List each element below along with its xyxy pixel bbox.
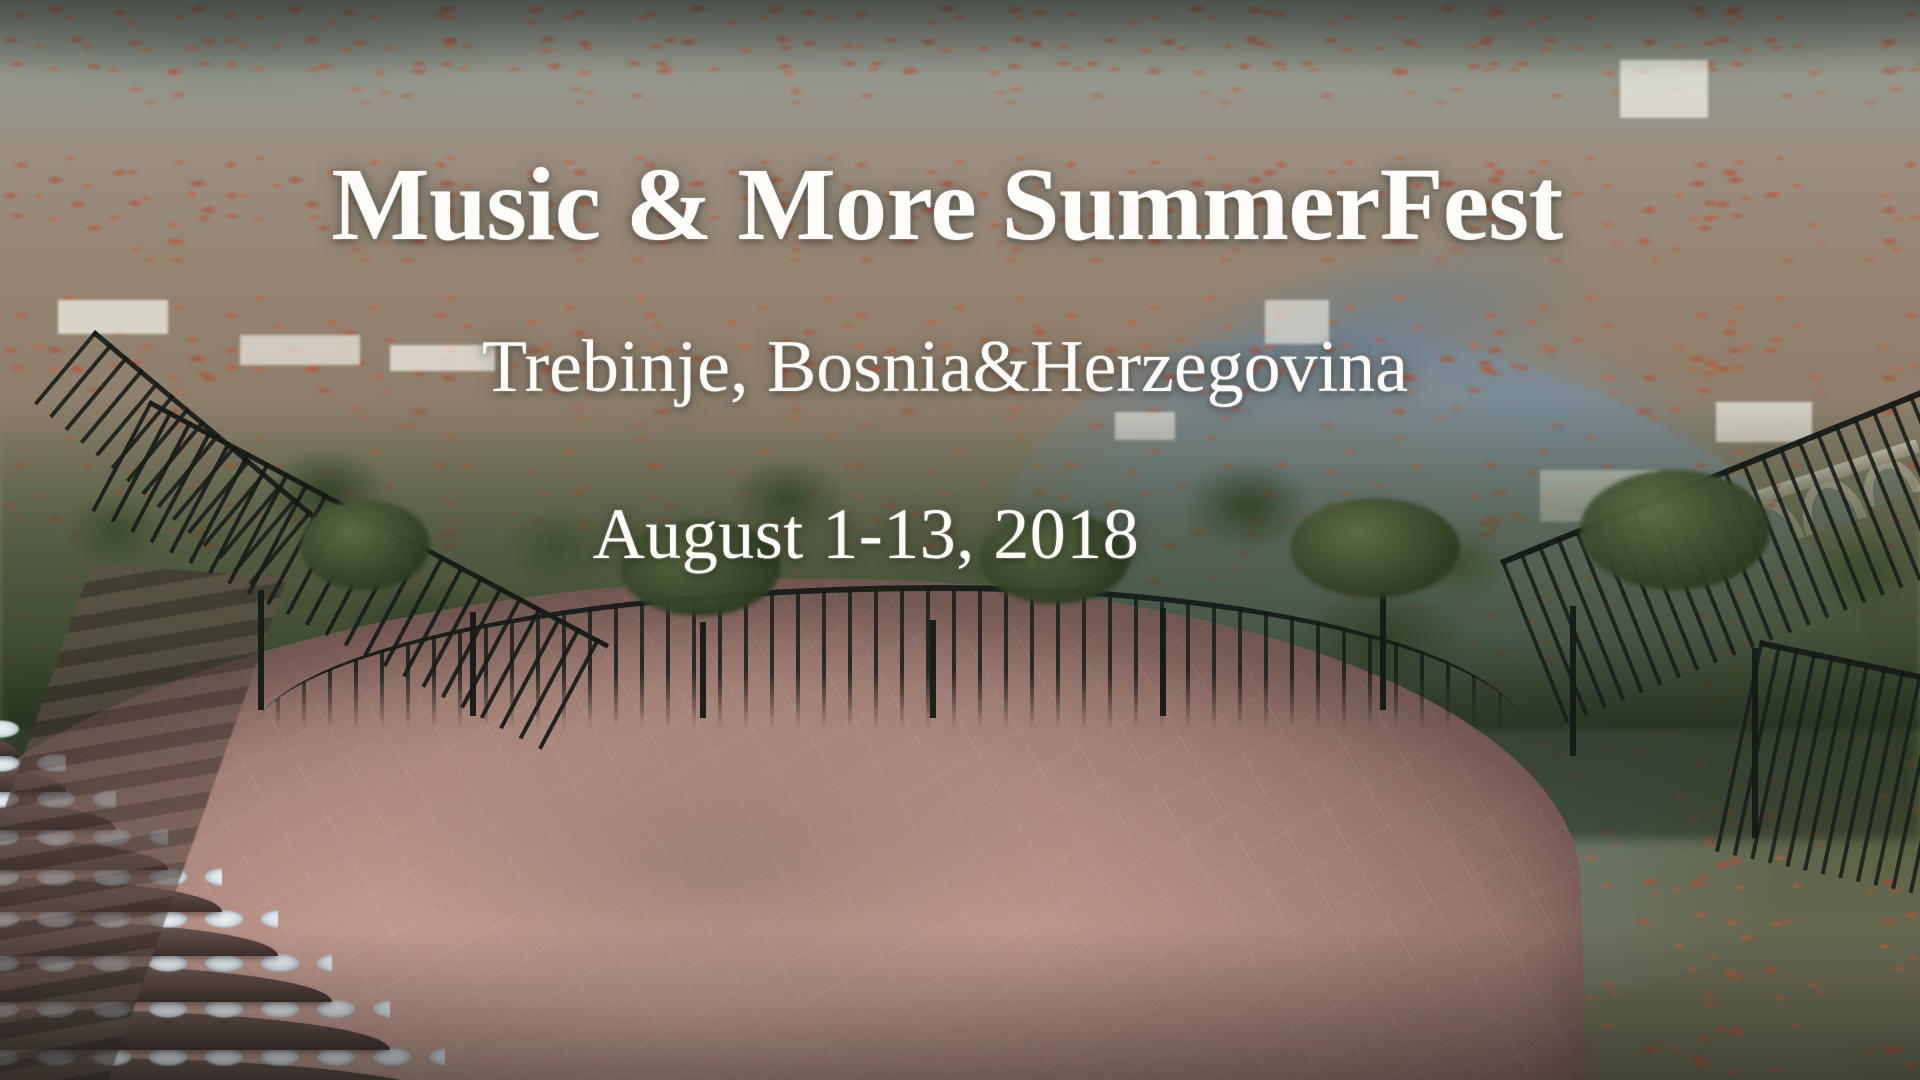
background-photo [0, 0, 1920, 1080]
railing-post [700, 622, 706, 718]
railing-post [1752, 648, 1758, 838]
shrub [1580, 470, 1770, 590]
railing-post [930, 620, 936, 718]
railing-post [1380, 590, 1386, 710]
railing-post [1160, 608, 1166, 716]
railing-post [258, 590, 264, 710]
railing-post [1570, 606, 1576, 756]
railing-post [470, 612, 476, 716]
shrub [620, 520, 780, 616]
event-title-card: Music & More SummerFest Trebinje, Bosnia… [0, 0, 1920, 1080]
shrub [1290, 498, 1460, 598]
seating-tier [0, 730, 20, 756]
shrub [300, 500, 430, 590]
seat-row [0, 718, 20, 740]
shrub [980, 512, 1130, 604]
